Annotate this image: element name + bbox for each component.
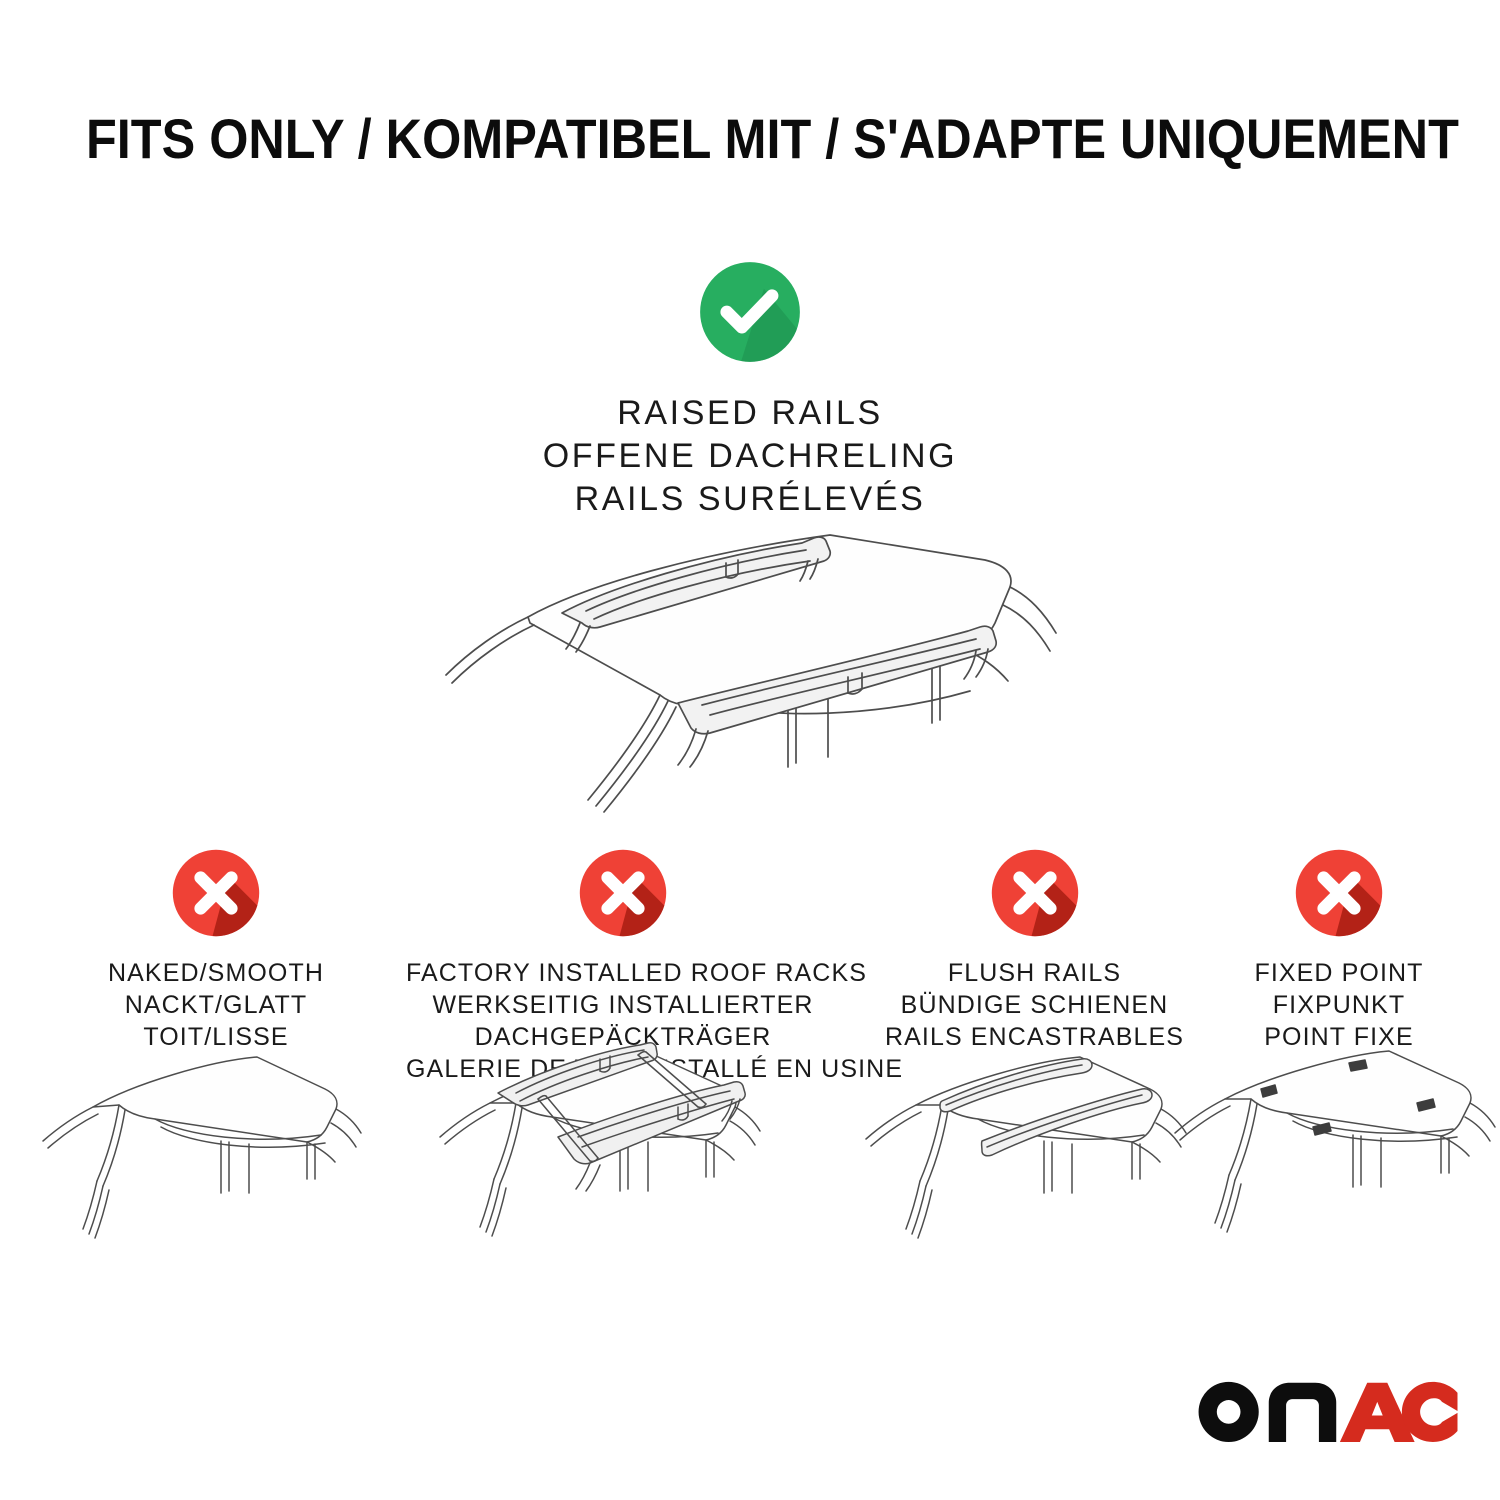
logo-letter-m — [1268, 1383, 1335, 1442]
car-roof-fixed-point-illustration — [1153, 1041, 1500, 1281]
omac-logo — [1194, 1380, 1458, 1442]
not-compatible-section: NAKED/SMOOTH NACKT/GLATT TOIT/LISSE — [0, 845, 1500, 1365]
not-compatible-labels: FIXED POINT FIXPUNKT POINT FIXE — [1215, 957, 1463, 1053]
car-roof-raised-rails-illustration — [410, 505, 1090, 850]
label-en: NAKED/SMOOTH — [30, 957, 402, 989]
compatible-label-de: OFFENE DACHRELING — [0, 435, 1500, 478]
logo-letter-o — [1198, 1382, 1258, 1442]
car-roof-naked-smooth-illustration — [35, 1041, 395, 1281]
cross-circle-icon — [1291, 845, 1387, 941]
not-compatible-item-flush-rails: FLUSH RAILS BÜNDIGE SCHIENEN RAILS ENCAS… — [862, 845, 1207, 1053]
label-de: FIXPUNKT — [1215, 989, 1463, 1021]
label-en: FACTORY INSTALLED ROOF RACKS — [406, 957, 840, 989]
page-title: FITS ONLY / KOMPATIBEL MIT / S'ADAPTE UN… — [86, 108, 1459, 170]
compatible-labels: RAISED RAILS OFFENE DACHRELING RAILS SUR… — [0, 392, 1500, 521]
cross-circle-icon — [987, 845, 1083, 941]
not-compatible-item-fixed-point: FIXED POINT FIXPUNKT POINT FIXE — [1215, 845, 1463, 1053]
label-en: FLUSH RAILS — [862, 957, 1207, 989]
not-compatible-labels: NAKED/SMOOTH NACKT/GLATT TOIT/LISSE — [30, 957, 402, 1053]
label-en: FIXED POINT — [1215, 957, 1463, 989]
check-circle-icon — [692, 254, 808, 370]
compatible-section: RAISED RAILS OFFENE DACHRELING RAILS SUR… — [0, 254, 1500, 521]
cross-circle-icon — [168, 845, 264, 941]
not-compatible-labels: FLUSH RAILS BÜNDIGE SCHIENEN RAILS ENCAS… — [862, 957, 1207, 1053]
car-roof-factory-roof-racks-illustration — [424, 1041, 804, 1281]
compatible-label-en: RAISED RAILS — [0, 392, 1500, 435]
label-de-1: WERKSEITIG INSTALLIERTER — [406, 989, 840, 1021]
label-de: BÜNDIGE SCHIENEN — [862, 989, 1207, 1021]
cross-circle-icon — [575, 845, 671, 941]
label-de: NACKT/GLATT — [30, 989, 402, 1021]
not-compatible-item-naked-smooth: NAKED/SMOOTH NACKT/GLATT TOIT/LISSE — [30, 845, 402, 1053]
not-compatible-item-factory-roof-racks: FACTORY INSTALLED ROOF RACKS WERKSEITIG … — [406, 845, 840, 1085]
